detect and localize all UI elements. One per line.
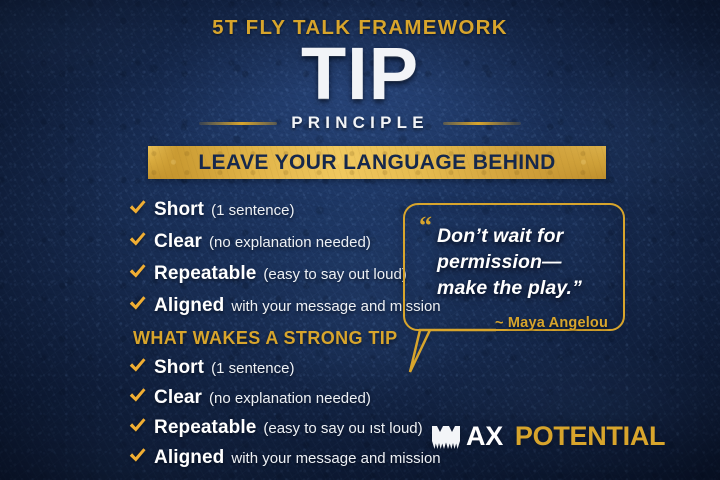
check-icon xyxy=(128,386,147,405)
list-item-label: Clear xyxy=(154,387,202,409)
divider-rule-left xyxy=(199,122,277,125)
quote-text: Don’t wait for permission—make the play.… xyxy=(437,223,611,301)
brand-logo: AX POTENTIAL xyxy=(431,423,665,450)
list-item-note: (1 sentence) xyxy=(211,360,294,377)
list-item: Aligned with your message and mission xyxy=(128,444,441,469)
list-item-label: Short xyxy=(154,199,204,221)
list-item-note: (no explanation needed) xyxy=(209,234,371,251)
criteria-list-primary: Short (1 sentence) Clear (no explanation… xyxy=(128,196,441,324)
logo-word-potential: POTENTIAL xyxy=(515,423,665,450)
list-item-note: (1 sentence) xyxy=(211,202,294,219)
list-item-note: with your message and mission xyxy=(231,450,440,467)
check-icon xyxy=(128,198,147,217)
crown-m-icon xyxy=(431,425,461,450)
headline-banner: LEAVE YOUR LANGUAGE BEHIND xyxy=(148,146,606,179)
list-item-note: (no explanation needed) xyxy=(209,390,371,407)
logo-word-max: AX xyxy=(466,423,503,450)
quote-open-mark: “ xyxy=(419,219,432,233)
quote-author: ~ Maya Angelou xyxy=(492,315,611,331)
page-title: TIP xyxy=(0,37,720,111)
subtitle-row: PRINCIPLE xyxy=(0,113,720,133)
list-item: Short (1 sentence) xyxy=(128,196,441,221)
banner-label: LEAVE YOUR LANGUAGE BEHIND xyxy=(148,146,606,179)
list-item: Clear (no explanation needed) xyxy=(128,228,441,253)
list-item: Short (1 sentence) xyxy=(128,354,441,379)
list-item-label: Aligned xyxy=(154,447,224,469)
list-item-note: (easy to say ou ıst loud) xyxy=(263,420,422,437)
check-icon xyxy=(128,446,147,465)
list-item: Repeatable (easy to say out loud) xyxy=(128,260,441,285)
list-item-label: Short xyxy=(154,357,204,379)
list-item-label: Repeatable xyxy=(154,263,256,285)
list-item-note: (easy to say out loud) xyxy=(263,266,406,283)
list-item: Aligned with your message and mission xyxy=(128,292,441,317)
list-item: Repeatable (easy to say ou ıst loud) xyxy=(128,414,441,439)
section-heading: WHAT WAKES A STRONG TIP xyxy=(133,328,398,349)
divider-rule-right xyxy=(443,122,521,125)
list-item-label: Clear xyxy=(154,231,202,253)
quote-bubble: “ Don’t wait for permission—make the pla… xyxy=(403,203,625,331)
criteria-list-secondary: Short (1 sentence) Clear (no explanation… xyxy=(128,354,441,474)
check-icon xyxy=(128,230,147,249)
check-icon xyxy=(128,356,147,375)
check-icon xyxy=(128,416,147,435)
poster-content: 5T FLY TALK FRAMEWORK TIP PRINCIPLE LEAV… xyxy=(0,0,720,480)
page-subtitle: PRINCIPLE xyxy=(291,113,428,133)
check-icon xyxy=(128,262,147,281)
list-item-label: Repeatable xyxy=(154,417,256,439)
quote-bubble-tail xyxy=(400,328,540,376)
list-item: Clear (no explanation needed) xyxy=(128,384,441,409)
poster-canvas: 5T FLY TALK FRAMEWORK TIP PRINCIPLE LEAV… xyxy=(0,0,720,480)
list-item-label: Aligned xyxy=(154,295,224,317)
check-icon xyxy=(128,294,147,313)
